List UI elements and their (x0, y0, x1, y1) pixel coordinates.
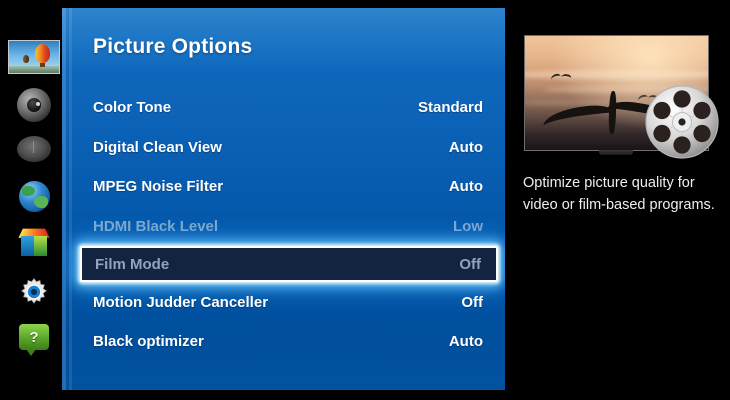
help-description-text: Optimize picture quality for video or fi… (523, 172, 719, 216)
tv-settings-screen: ? Picture Options Color Tone Standard Di… (0, 0, 730, 400)
sidebar-item-support[interactable]: ? (8, 324, 60, 350)
sidebar-item-sound[interactable] (8, 88, 60, 122)
menu-row-label: HDMI Black Level (93, 218, 218, 235)
menu-row-value: Low (453, 218, 483, 235)
sidebar-item-channel[interactable] (8, 136, 60, 162)
film-reel-icon (644, 84, 720, 160)
menu-row-film-mode[interactable]: Film Mode Off (80, 246, 498, 282)
sidebar-item-picture[interactable] (8, 40, 60, 74)
sidebar-item-smart-features[interactable] (8, 226, 60, 258)
menu-row-mpeg-noise-filter[interactable]: MPEG Noise Filter Auto (62, 167, 505, 207)
menu-row-color-tone[interactable]: Color Tone Standard (62, 88, 505, 128)
menu-row-value: Off (459, 256, 481, 273)
menu-row-black-optimizer[interactable]: Black optimizer Auto (62, 322, 505, 362)
color-cube-icon (19, 226, 49, 258)
picture-thumbnail-icon (8, 40, 60, 74)
menu-row-label: Film Mode (95, 256, 169, 273)
speaker-icon (17, 88, 51, 122)
globe-icon (19, 181, 50, 212)
menu-row-digital-clean-view[interactable]: Digital Clean View Auto (62, 128, 505, 168)
menu-row-label: Color Tone (93, 99, 171, 116)
small-bird-icon (551, 74, 571, 82)
menu-row-label: Digital Clean View (93, 139, 222, 156)
help-bubble-icon: ? (19, 324, 49, 350)
menu-row-value: Auto (449, 333, 483, 350)
menu-row-value: Auto (449, 139, 483, 156)
menu-row-value: Standard (418, 99, 483, 116)
picture-options-panel: Picture Options Color Tone Standard Digi… (62, 8, 505, 390)
menu-list: Color Tone Standard Digital Clean View A… (62, 88, 505, 362)
sidebar-item-system[interactable] (8, 276, 60, 308)
menu-row-value: Off (461, 294, 483, 311)
menu-row-motion-judder-canceller[interactable]: Motion Judder Canceller Off (62, 282, 505, 322)
antenna-disc-icon (17, 136, 51, 162)
sidebar-item-network[interactable] (8, 181, 60, 212)
page-title: Picture Options (93, 35, 252, 59)
menu-row-label: Motion Judder Canceller (93, 294, 268, 311)
tv-stand (599, 150, 633, 155)
settings-sidebar: ? (0, 0, 62, 400)
help-panel: Optimize picture quality for video or fi… (505, 0, 730, 400)
menu-row-value: Auto (449, 178, 483, 195)
gear-icon (18, 276, 50, 308)
menu-row-hdmi-black-level: HDMI Black Level Low (62, 207, 505, 247)
help-bubble-glyph: ? (29, 329, 38, 346)
menu-row-label: Black optimizer (93, 333, 204, 350)
menu-row-label: MPEG Noise Filter (93, 178, 223, 195)
